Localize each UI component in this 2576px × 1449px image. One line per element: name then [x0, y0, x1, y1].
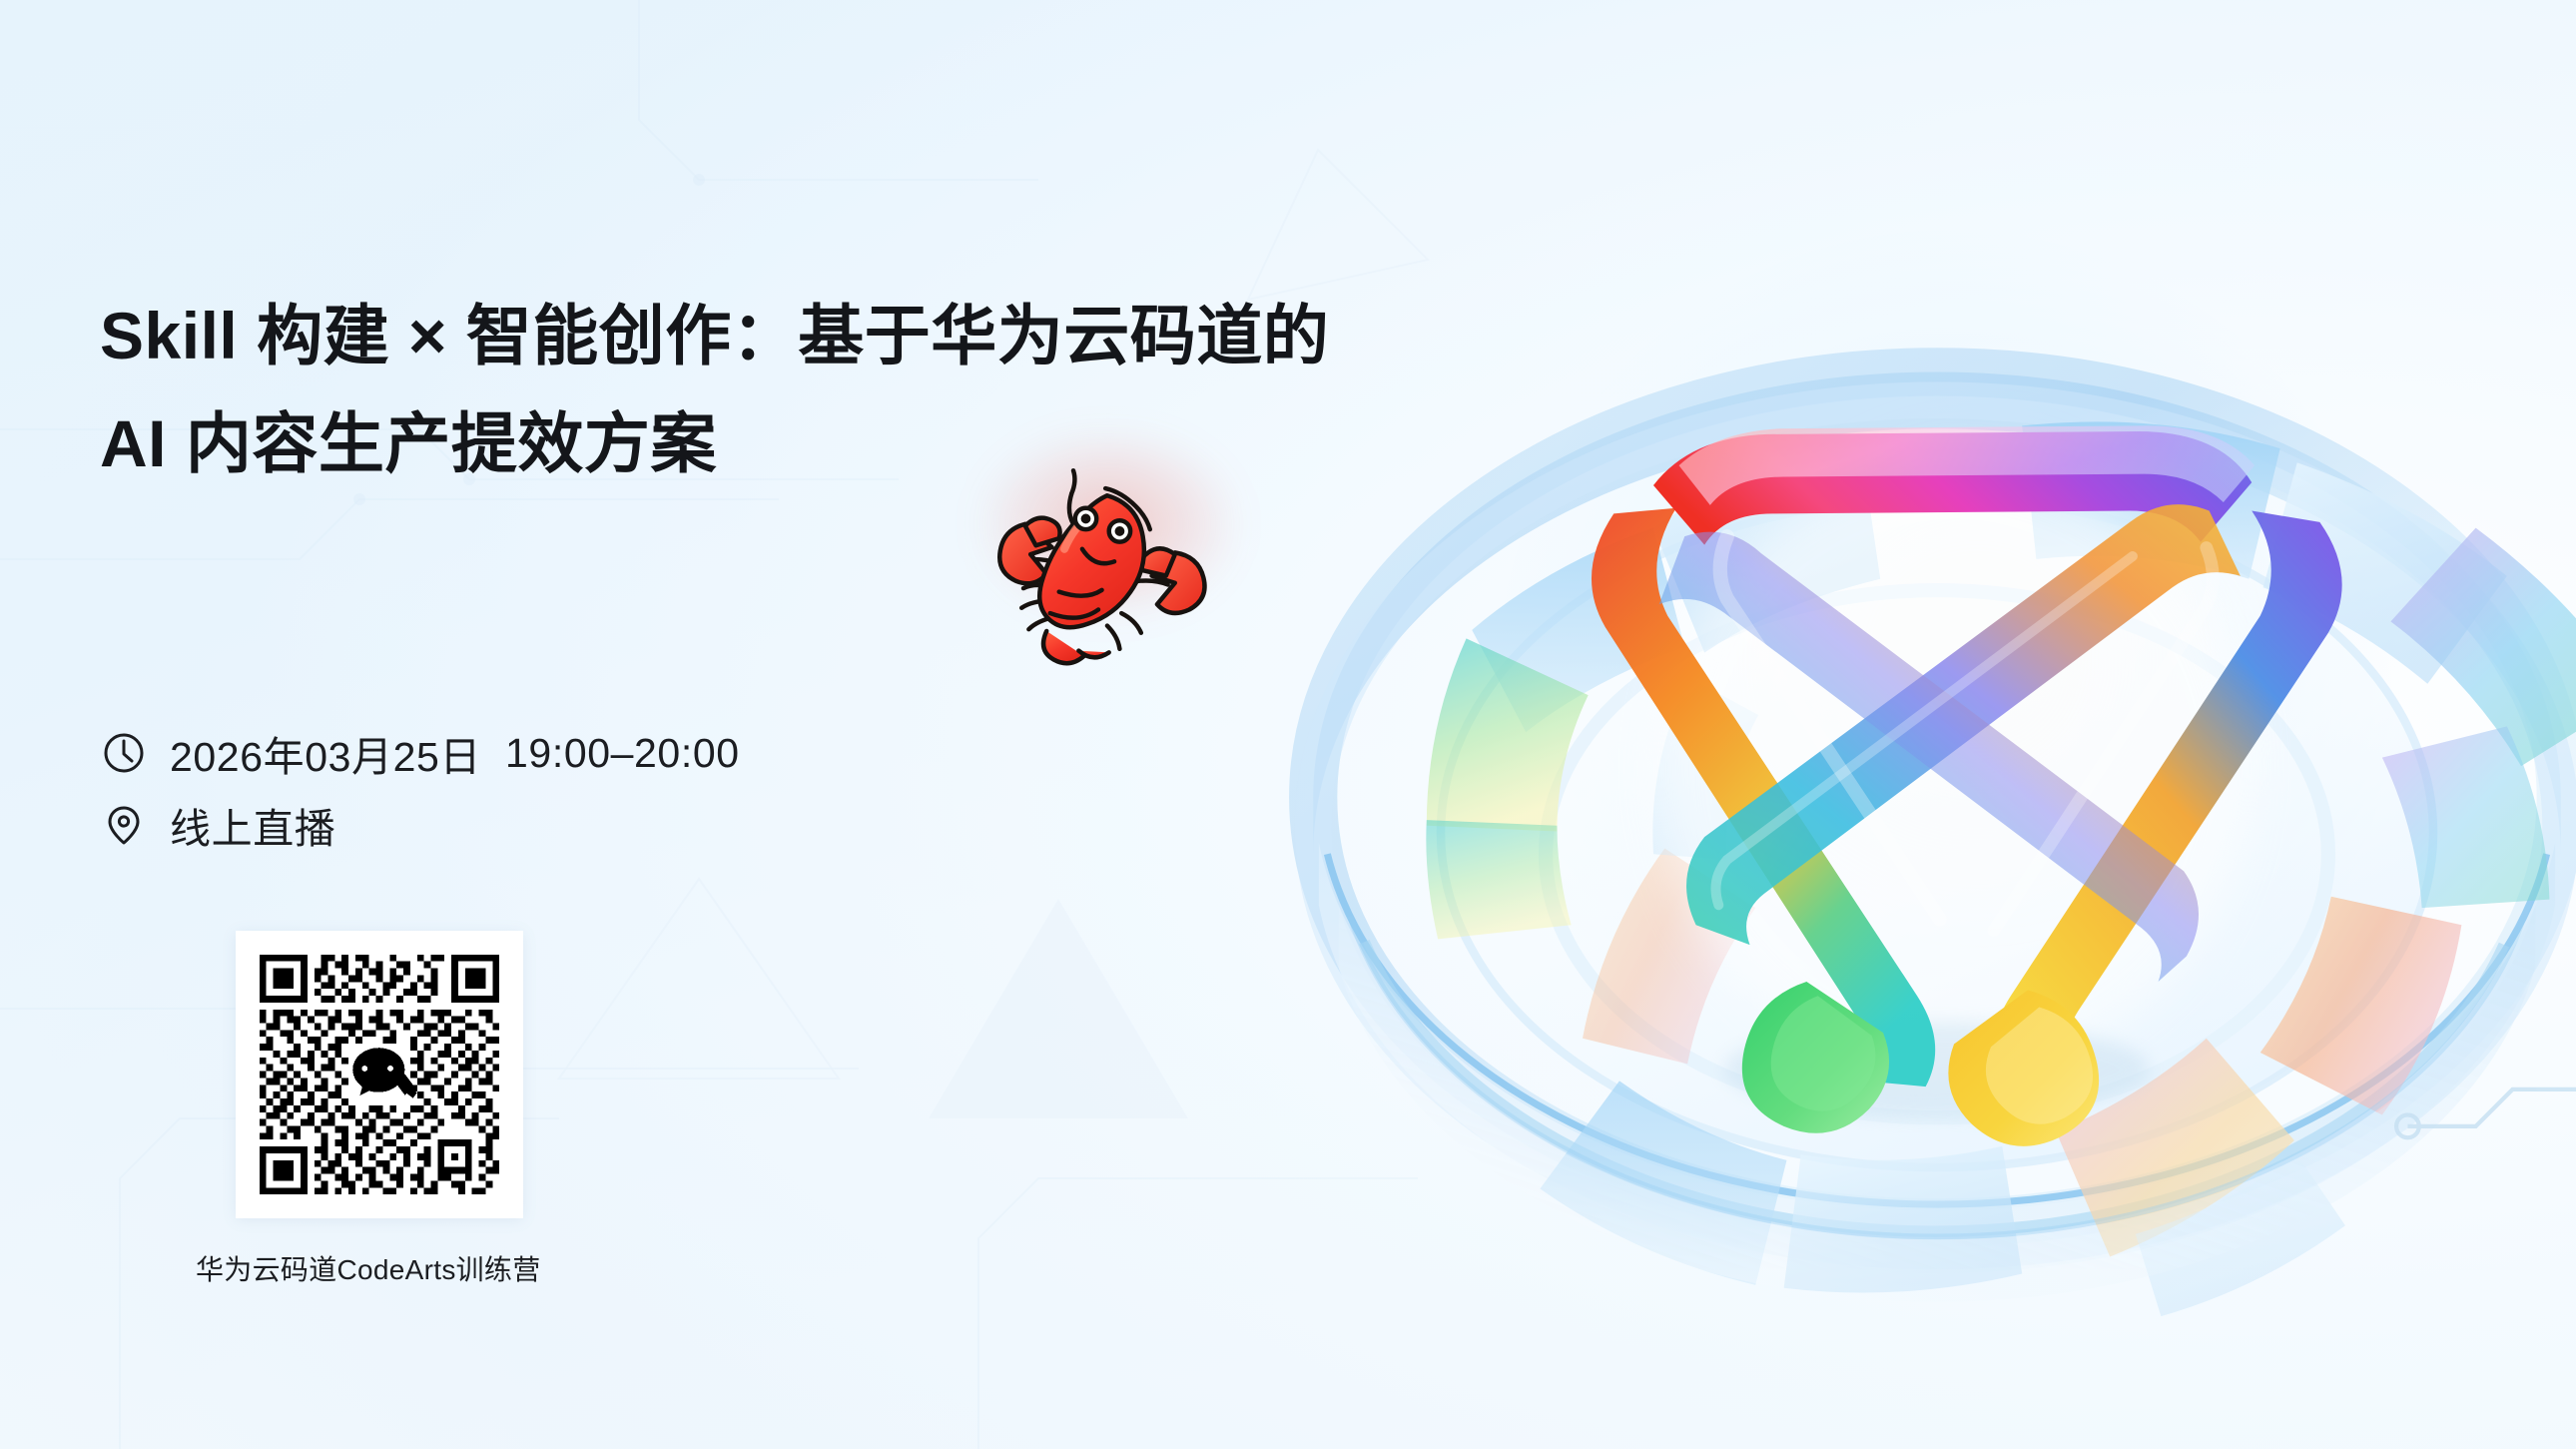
- event-time: 19:00–20:00: [505, 730, 740, 777]
- clock-icon: [100, 729, 148, 777]
- glass-panels: [1426, 421, 2576, 1316]
- codearts-3d-ribbon-graphic: [1228, 60, 2576, 1449]
- hero-tech-accent: [2396, 1089, 2576, 1137]
- qr-caption: 华为云码道CodeArts训练营: [196, 1248, 483, 1288]
- hero-glow-warm: [1717, 399, 2237, 919]
- glass-ring-outer: [1313, 371, 2561, 1273]
- glass-ring-front: [1339, 905, 2535, 1302]
- event-location: 线上直播: [170, 795, 335, 855]
- qr-block: 华为云码道CodeArts训练营: [236, 931, 523, 1288]
- qr-code[interactable]: [236, 931, 523, 1218]
- event-meta: 2026年03月25日 19:00–20:00 线上直播: [100, 717, 740, 861]
- poster-canvas: Skill 构建 × 智能创作：基于华为云码道的 AI 内容生产提效方案 202…: [0, 0, 2576, 1449]
- qr-matrix: [253, 948, 506, 1201]
- event-date: 2026年03月25日: [170, 723, 481, 783]
- rainbow-ribbon-sculpture: [1592, 425, 2342, 1145]
- event-datetime-row: 2026年03月25日 19:00–20:00: [100, 717, 740, 789]
- title-line-1: Skill 构建 × 智能创作：基于华为云码道的: [100, 282, 1218, 389]
- location-pin-icon: [100, 801, 148, 849]
- content-column: Skill 构建 × 智能创作：基于华为云码道的 AI 内容生产提效方案 202…: [0, 0, 1248, 1449]
- page-title: Skill 构建 × 智能创作：基于华为云码道的 AI 内容生产提效方案: [100, 282, 1218, 497]
- event-location-row: 线上直播: [100, 789, 740, 861]
- title-line-2: AI 内容生产提效方案: [100, 389, 1218, 497]
- hero-glow-primary: [1498, 230, 2396, 1128]
